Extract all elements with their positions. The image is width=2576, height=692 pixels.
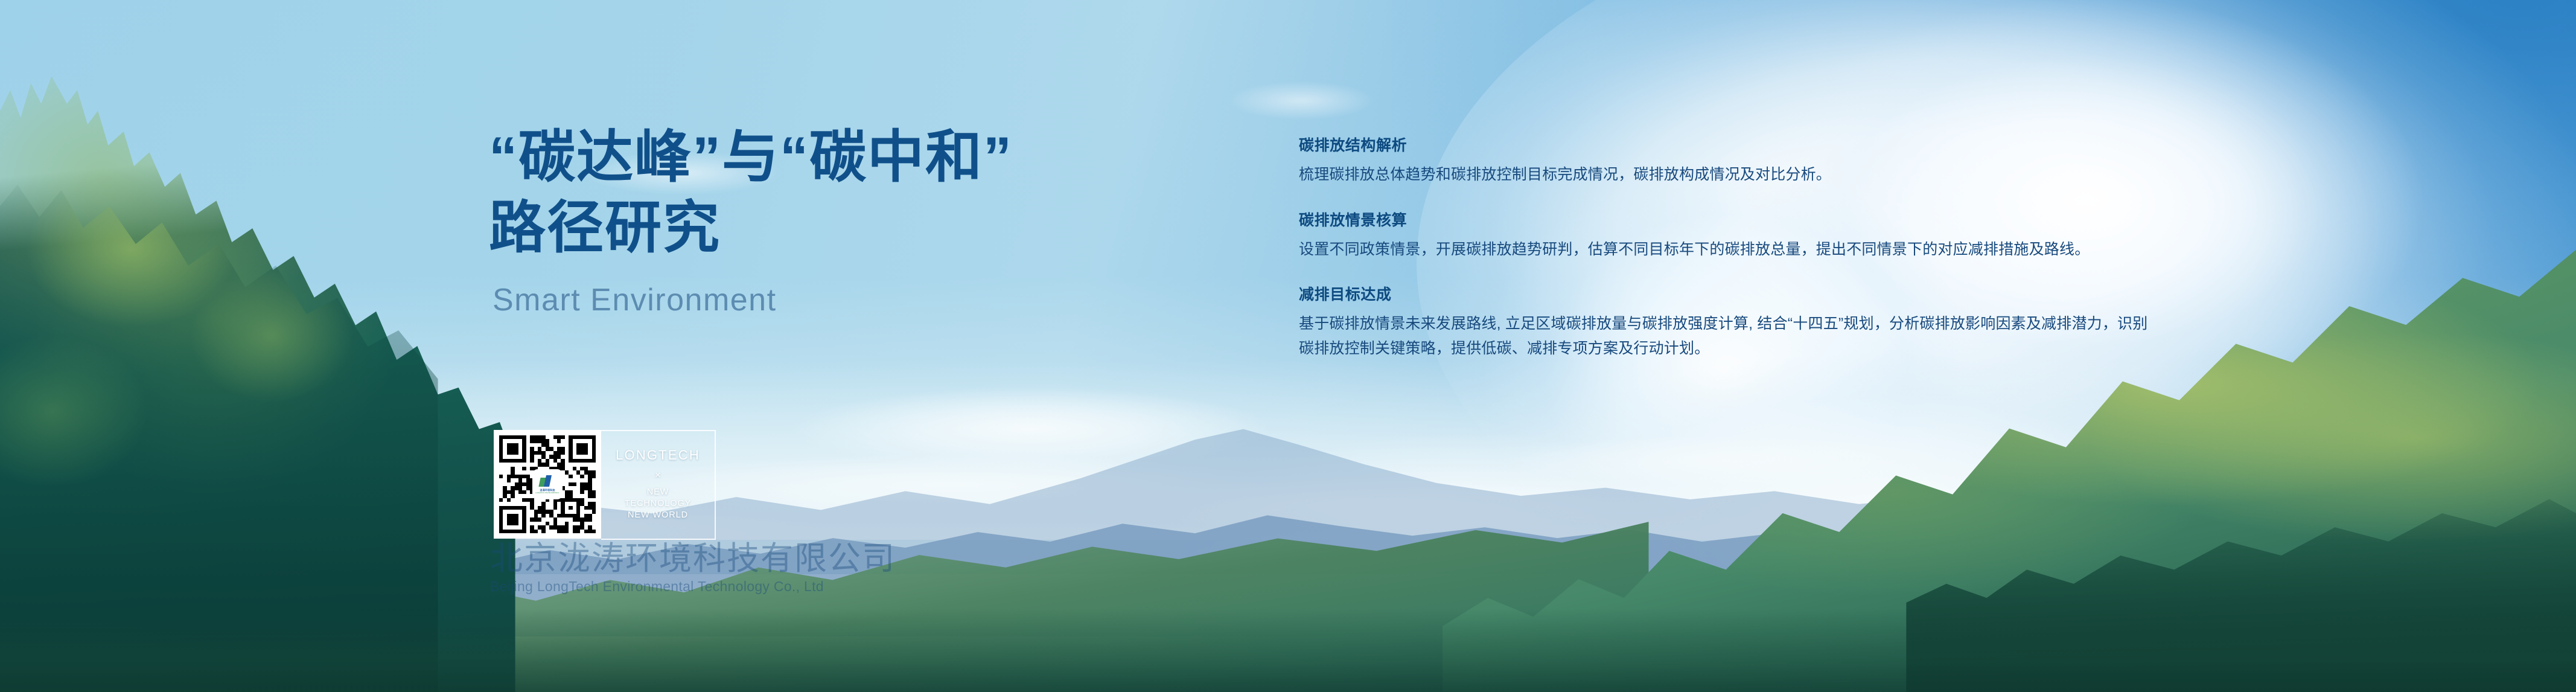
forest-bottom-shade: [0, 609, 2576, 692]
section-2-body: 设置不同政策情景，开展碳排放趋势研判，估算不同目标年下的碳排放总量，提出不同情景…: [1299, 237, 2156, 262]
qr-logo-en-text: LONGTECH ENVIRONMENTAL: [535, 492, 560, 494]
qr-center-logo: 泷涛环境科技 LONGTECH ENVIRONMENTAL: [534, 470, 561, 498]
hero-subtitle: Smart Environment: [493, 282, 1231, 318]
section-3-heading: 减排目标达成: [1299, 286, 2156, 304]
cross-icon: ×: [655, 470, 661, 480]
feature-section-2: 碳排放情景核算 设置不同政策情景，开展碳排放趋势研判，估算不同目标年下的碳排放总…: [1299, 211, 2156, 262]
section-3-body: 基于碳排放情景未来发展路线, 立足区域碳排放量与碳排放强度计算, 结合“十四五”…: [1299, 312, 2156, 360]
brand-name: LONGTECH: [616, 449, 700, 462]
section-1-body: 梳理碳排放总体趋势和碳排放控制目标完成情况，碳排放构成情况及对比分析。: [1299, 162, 2156, 187]
brand-tagline: NEW TECHNOLOGY NEW WORLD: [625, 487, 692, 522]
brand-tagline-line-1: NEW: [625, 487, 692, 498]
section-2-heading: 碳排放情景核算: [1299, 211, 2156, 229]
feature-section-3: 减排目标达成 基于碳排放情景未来发展路线, 立足区域碳排放量与碳排放强度计算, …: [1299, 286, 2156, 360]
qr-brand-block: 泷涛环境科技 LONGTECH ENVIRONMENTAL LONGTECH ×…: [494, 430, 716, 540]
section-1-heading: 碳排放结构解析: [1299, 136, 2156, 155]
banner-root: “碳达峰”与“碳中和” 路径研究 Smart Environment 泷涛环境科…: [0, 0, 2576, 692]
qr-code-card[interactable]: 泷涛环境科技 LONGTECH ENVIRONMENTAL: [494, 430, 601, 539]
forest-layer: [0, 0, 2576, 692]
hero-text-block: “碳达峰”与“碳中和” 路径研究 Smart Environment: [489, 124, 1231, 318]
hero-title-line-2: 路径研究: [489, 194, 1231, 261]
brand-tagline-line-2: TECHNOLOGY: [625, 498, 692, 510]
brand-tagline-line-3: NEW WORLD: [625, 510, 692, 521]
feature-sections-column: 碳排放结构解析 梳理碳排放总体趋势和碳排放控制目标完成情况，碳排放构成情况及对比…: [1299, 136, 2156, 360]
hero-title-line-1: “碳达峰”与“碳中和”: [489, 124, 1231, 191]
feature-section-1: 碳排放结构解析 梳理碳排放总体趋势和碳排放控制目标完成情况，碳排放构成情况及对比…: [1299, 136, 2156, 187]
longtech-logo-icon: [540, 475, 555, 487]
brand-tagline-panel: LONGTECH × NEW TECHNOLOGY NEW WORLD: [601, 430, 716, 540]
